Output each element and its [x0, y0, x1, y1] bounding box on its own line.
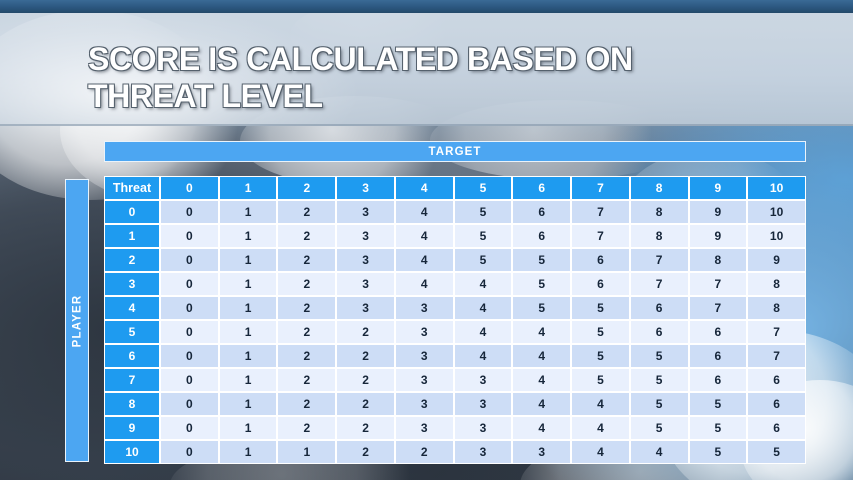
matrix-cell-r3-c5: 4 [454, 272, 513, 296]
matrix-cell-r0-c9: 9 [689, 200, 748, 224]
matrix-cell-r4-c6: 5 [512, 296, 571, 320]
matrix-cell-r3-c0: 0 [160, 272, 219, 296]
matrix-cell-r1-c7: 7 [571, 224, 630, 248]
matrix-column-header-4: 4 [395, 176, 454, 200]
matrix-cell-r0-c4: 4 [395, 200, 454, 224]
matrix-column-header-9: 9 [689, 176, 748, 200]
matrix-cell-r8-c10: 6 [747, 392, 806, 416]
matrix-cell-r9-c1: 1 [219, 416, 278, 440]
matrix-row: 1001122334455 [104, 440, 806, 464]
title-band: SCORE IS CALCULATED BASED ON THREAT LEVE… [0, 13, 853, 126]
matrix-cell-r1-c8: 8 [630, 224, 689, 248]
matrix-cell-r1-c6: 6 [512, 224, 571, 248]
matrix-cell-r1-c2: 2 [277, 224, 336, 248]
matrix-cell-r8-c9: 5 [689, 392, 748, 416]
matrix-cell-r10-c5: 3 [454, 440, 513, 464]
score-matrix-table: Threat 012345678910 00123456789101012345… [104, 176, 806, 464]
matrix-cell-r5-c6: 4 [512, 320, 571, 344]
matrix-cell-r9-c7: 4 [571, 416, 630, 440]
matrix-cell-r6-c10: 7 [747, 344, 806, 368]
matrix-row-header-1: 1 [104, 224, 160, 248]
matrix-row: 801223344556 [104, 392, 806, 416]
matrix-cell-r2-c1: 1 [219, 248, 278, 272]
matrix-column-header-0: 0 [160, 176, 219, 200]
slide: SCORE IS CALCULATED BASED ON THREAT LEVE… [0, 0, 853, 480]
matrix-column-header-3: 3 [336, 176, 395, 200]
matrix-cell-r8-c3: 2 [336, 392, 395, 416]
matrix-cell-r9-c3: 2 [336, 416, 395, 440]
matrix-row-header-4: 4 [104, 296, 160, 320]
matrix-cell-r7-c5: 3 [454, 368, 513, 392]
top-accent-band [0, 0, 853, 13]
matrix-cell-r10-c3: 2 [336, 440, 395, 464]
matrix-cell-r4-c8: 6 [630, 296, 689, 320]
matrix-cell-r7-c0: 0 [160, 368, 219, 392]
matrix-cell-r6-c1: 1 [219, 344, 278, 368]
target-axis-label-text: TARGET [428, 146, 481, 158]
matrix-cell-r6-c6: 4 [512, 344, 571, 368]
matrix-row-header-10: 10 [104, 440, 160, 464]
matrix-cell-r1-c0: 0 [160, 224, 219, 248]
matrix-cell-r8-c5: 3 [454, 392, 513, 416]
matrix-cell-r2-c10: 9 [747, 248, 806, 272]
matrix-header-row: Threat 012345678910 [104, 176, 806, 200]
matrix-row-header-6: 6 [104, 344, 160, 368]
matrix-cell-r2-c2: 2 [277, 248, 336, 272]
matrix-cell-r2-c3: 3 [336, 248, 395, 272]
matrix-cell-r0-c1: 1 [219, 200, 278, 224]
matrix-cell-r1-c5: 5 [454, 224, 513, 248]
matrix-cell-r2-c9: 8 [689, 248, 748, 272]
matrix-row-header-2: 2 [104, 248, 160, 272]
matrix-row: 301234456778 [104, 272, 806, 296]
matrix-cell-r5-c10: 7 [747, 320, 806, 344]
matrix-cell-r5-c3: 2 [336, 320, 395, 344]
matrix-cell-r6-c0: 0 [160, 344, 219, 368]
matrix-cell-r5-c4: 3 [395, 320, 454, 344]
matrix-cell-r7-c3: 2 [336, 368, 395, 392]
matrix-cell-r7-c7: 5 [571, 368, 630, 392]
matrix-cell-r3-c2: 2 [277, 272, 336, 296]
matrix-cell-r3-c9: 7 [689, 272, 748, 296]
matrix-cell-r9-c10: 6 [747, 416, 806, 440]
matrix-column-header-1: 1 [219, 176, 278, 200]
matrix-cell-r4-c3: 3 [336, 296, 395, 320]
matrix-cell-r6-c7: 5 [571, 344, 630, 368]
matrix-cell-r10-c9: 5 [689, 440, 748, 464]
player-axis-label: PLAYER [65, 179, 89, 462]
matrix-cell-r5-c1: 1 [219, 320, 278, 344]
matrix-column-header-5: 5 [454, 176, 513, 200]
matrix-cell-r2-c8: 7 [630, 248, 689, 272]
matrix-column-header-8: 8 [630, 176, 689, 200]
matrix-cell-r5-c2: 2 [277, 320, 336, 344]
matrix-cell-r10-c8: 4 [630, 440, 689, 464]
matrix-cell-r0-c10: 10 [747, 200, 806, 224]
matrix-cell-r8-c6: 4 [512, 392, 571, 416]
matrix-row: 901223344556 [104, 416, 806, 440]
matrix-cell-r8-c4: 3 [395, 392, 454, 416]
matrix-corner-header: Threat [104, 176, 160, 200]
matrix-cell-r6-c3: 2 [336, 344, 395, 368]
matrix-cell-r8-c1: 1 [219, 392, 278, 416]
matrix-cell-r10-c10: 5 [747, 440, 806, 464]
matrix-cell-r5-c7: 5 [571, 320, 630, 344]
matrix-row: 0012345678910 [104, 200, 806, 224]
matrix-column-header-2: 2 [277, 176, 336, 200]
matrix-cell-r10-c1: 1 [219, 440, 278, 464]
matrix-column-header-7: 7 [571, 176, 630, 200]
matrix-cell-r9-c4: 3 [395, 416, 454, 440]
matrix-row-header-8: 8 [104, 392, 160, 416]
matrix-cell-r3-c1: 1 [219, 272, 278, 296]
matrix-row-header-9: 9 [104, 416, 160, 440]
matrix-cell-r9-c2: 2 [277, 416, 336, 440]
matrix-cell-r0-c0: 0 [160, 200, 219, 224]
matrix-cell-r9-c6: 4 [512, 416, 571, 440]
matrix-cell-r4-c5: 4 [454, 296, 513, 320]
matrix-cell-r1-c4: 4 [395, 224, 454, 248]
matrix-cell-r4-c2: 2 [277, 296, 336, 320]
matrix-cell-r9-c8: 5 [630, 416, 689, 440]
matrix-cell-r8-c8: 5 [630, 392, 689, 416]
matrix-cell-r5-c8: 6 [630, 320, 689, 344]
page-title: SCORE IS CALCULATED BASED ON THREAT LEVE… [88, 41, 708, 115]
matrix-cell-r2-c7: 6 [571, 248, 630, 272]
matrix-cell-r5-c0: 0 [160, 320, 219, 344]
matrix-cell-r7-c6: 4 [512, 368, 571, 392]
matrix-cell-r10-c7: 4 [571, 440, 630, 464]
matrix-cell-r2-c5: 5 [454, 248, 513, 272]
matrix-cell-r1-c10: 10 [747, 224, 806, 248]
matrix-cell-r0-c8: 8 [630, 200, 689, 224]
matrix-column-header-10: 10 [747, 176, 806, 200]
matrix-cell-r1-c3: 3 [336, 224, 395, 248]
matrix-row: 401233455678 [104, 296, 806, 320]
matrix-row-header-3: 3 [104, 272, 160, 296]
matrix-cell-r4-c1: 1 [219, 296, 278, 320]
matrix-cell-r0-c5: 5 [454, 200, 513, 224]
matrix-cell-r2-c6: 5 [512, 248, 571, 272]
matrix-cell-r7-c9: 6 [689, 368, 748, 392]
matrix-row: 501223445667 [104, 320, 806, 344]
matrix-cell-r0-c6: 6 [512, 200, 571, 224]
matrix-cell-r7-c1: 1 [219, 368, 278, 392]
matrix-cell-r4-c10: 8 [747, 296, 806, 320]
matrix-cell-r5-c5: 4 [454, 320, 513, 344]
matrix-cell-r3-c6: 5 [512, 272, 571, 296]
matrix-cell-r6-c5: 4 [454, 344, 513, 368]
matrix-cell-r2-c0: 0 [160, 248, 219, 272]
matrix-cell-r7-c10: 6 [747, 368, 806, 392]
matrix-cell-r6-c9: 6 [689, 344, 748, 368]
matrix-row: 601223445567 [104, 344, 806, 368]
matrix-cell-r6-c4: 3 [395, 344, 454, 368]
matrix-cell-r3-c8: 7 [630, 272, 689, 296]
matrix-cell-r3-c10: 8 [747, 272, 806, 296]
matrix-cell-r4-c4: 3 [395, 296, 454, 320]
matrix-cell-r9-c0: 0 [160, 416, 219, 440]
matrix-cell-r2-c4: 4 [395, 248, 454, 272]
matrix-cell-r10-c0: 0 [160, 440, 219, 464]
matrix-cell-r3-c7: 6 [571, 272, 630, 296]
matrix-cell-r7-c8: 5 [630, 368, 689, 392]
matrix-body: 0012345678910101234567891020123455678930… [104, 200, 806, 464]
matrix-cell-r10-c4: 2 [395, 440, 454, 464]
matrix-cell-r10-c2: 1 [277, 440, 336, 464]
matrix-cell-r6-c8: 5 [630, 344, 689, 368]
target-axis-label: TARGET [104, 141, 806, 162]
matrix-cell-r3-c3: 3 [336, 272, 395, 296]
matrix-cell-r4-c9: 7 [689, 296, 748, 320]
matrix-cell-r0-c3: 3 [336, 200, 395, 224]
player-axis-label-text: PLAYER [71, 294, 83, 347]
matrix-cell-r7-c2: 2 [277, 368, 336, 392]
matrix-cell-r8-c7: 4 [571, 392, 630, 416]
matrix-cell-r8-c0: 0 [160, 392, 219, 416]
matrix-row: 701223345566 [104, 368, 806, 392]
matrix-cell-r1-c9: 9 [689, 224, 748, 248]
matrix-cell-r9-c9: 5 [689, 416, 748, 440]
matrix-cell-r10-c6: 3 [512, 440, 571, 464]
matrix-row-header-5: 5 [104, 320, 160, 344]
matrix-cell-r5-c9: 6 [689, 320, 748, 344]
matrix-cell-r4-c7: 5 [571, 296, 630, 320]
matrix-cell-r7-c4: 3 [395, 368, 454, 392]
matrix-cell-r9-c5: 3 [454, 416, 513, 440]
matrix-head: Threat 012345678910 [104, 176, 806, 200]
matrix-cell-r0-c7: 7 [571, 200, 630, 224]
matrix-cell-r4-c0: 0 [160, 296, 219, 320]
matrix-cell-r6-c2: 2 [277, 344, 336, 368]
matrix-row-header-7: 7 [104, 368, 160, 392]
matrix-cell-r1-c1: 1 [219, 224, 278, 248]
matrix-row-header-0: 0 [104, 200, 160, 224]
matrix-row: 1012345678910 [104, 224, 806, 248]
matrix-cell-r3-c4: 4 [395, 272, 454, 296]
matrix-column-header-6: 6 [512, 176, 571, 200]
matrix-cell-r8-c2: 2 [277, 392, 336, 416]
matrix-row: 201234556789 [104, 248, 806, 272]
matrix-cell-r0-c2: 2 [277, 200, 336, 224]
